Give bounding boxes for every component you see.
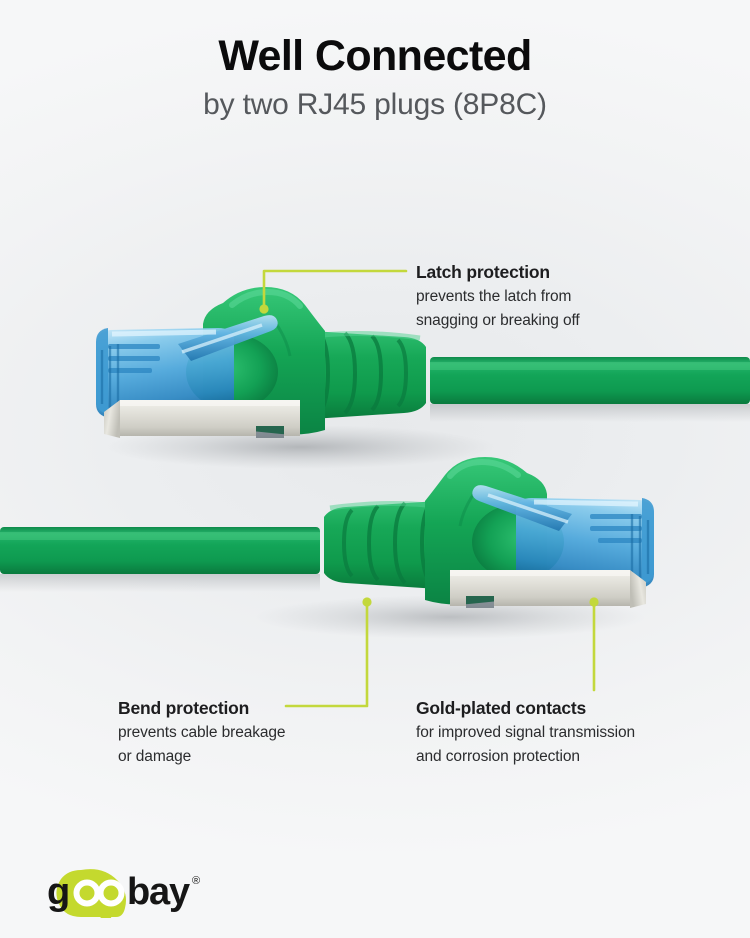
shield-plate-top xyxy=(104,400,300,438)
shield-plate-bottom xyxy=(450,570,646,608)
gold-contact-notch-top xyxy=(256,426,284,438)
callout-bend-line1: prevents cable breakage xyxy=(118,722,285,744)
callout-latch-protection: Latch protection prevents the latch from… xyxy=(416,262,580,332)
infographic-canvas: Well Connected by two RJ45 plugs (8P8C) xyxy=(0,0,750,938)
gold-contact-notch-bottom xyxy=(466,596,494,608)
callout-latch-line1: prevents the latch from xyxy=(416,286,580,308)
callout-gold-line1: for improved signal transmission xyxy=(416,722,635,744)
logo-registered-mark: ® xyxy=(192,875,200,887)
callout-bend-line2: or damage xyxy=(118,746,285,768)
callout-latch-line2: snagging or breaking off xyxy=(416,310,580,332)
product-illustration xyxy=(0,0,750,938)
callout-latch-title: Latch protection xyxy=(416,262,580,284)
callout-gold-plated-contacts: Gold-plated contacts for improved signal… xyxy=(416,698,635,768)
logo-text-g: g xyxy=(47,871,69,913)
rj45-plug-bottom xyxy=(0,457,654,639)
logo-text-bay: bay xyxy=(127,871,190,913)
callout-gold-title: Gold-plated contacts xyxy=(416,698,635,720)
goobay-logo: g bay ® xyxy=(47,866,237,918)
callout-bend-protection: Bend protection prevents cable breakage … xyxy=(118,698,285,768)
callout-bend-title: Bend protection xyxy=(118,698,285,720)
callout-gold-line2: and corrosion protection xyxy=(416,746,635,768)
